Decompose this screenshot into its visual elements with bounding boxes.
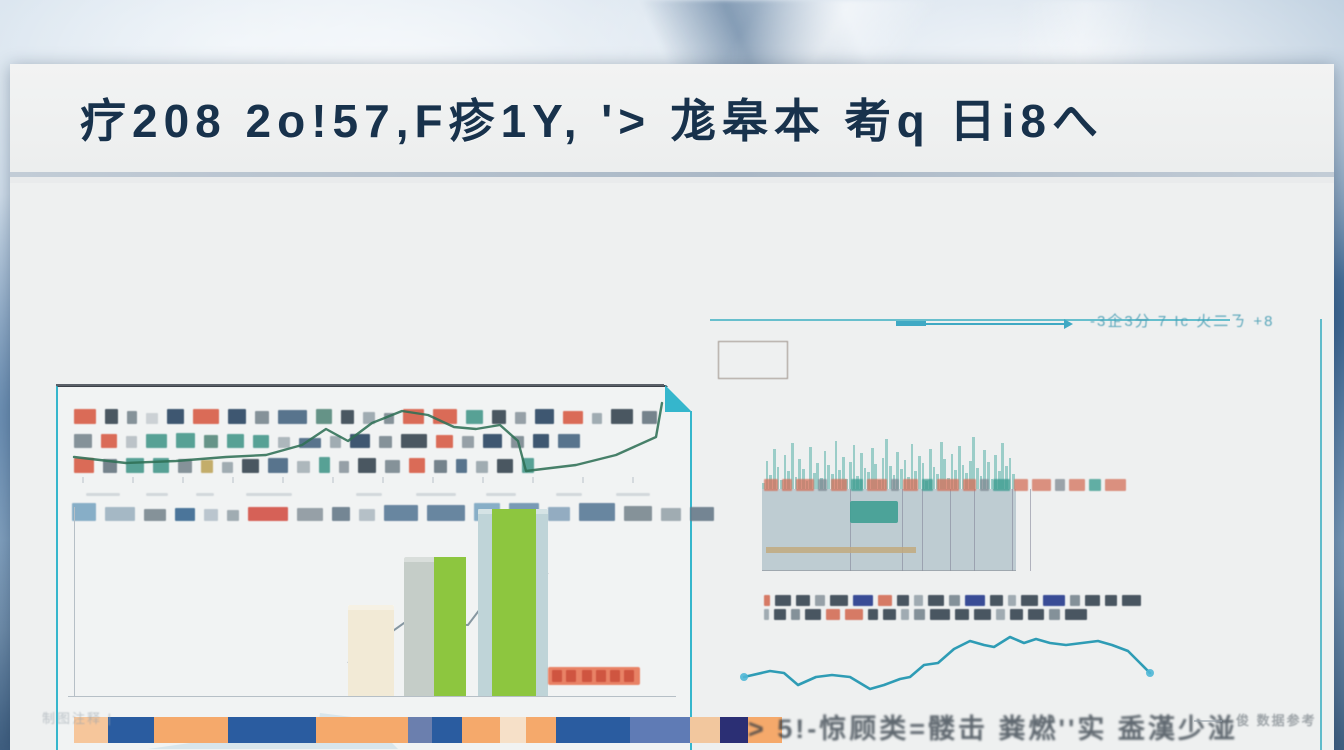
axis-ghost-label-3 bbox=[246, 493, 292, 496]
right-chart-spikes bbox=[762, 353, 1016, 489]
axis-ghost-label-7 bbox=[556, 493, 582, 496]
footer-left-note: 制图注释 | bbox=[42, 708, 113, 727]
pointer-arrow-line bbox=[924, 323, 1064, 325]
left-badge-4[interactable] bbox=[316, 717, 408, 743]
axis-ghost-label-2 bbox=[196, 493, 214, 496]
right-chart-inline-label bbox=[850, 501, 898, 523]
value-label-8 bbox=[903, 479, 918, 491]
right-chart-panel[interactable]: -3企3分 7 Ic 火二ㄋ +8 bbox=[710, 319, 1322, 750]
left-badge-10[interactable] bbox=[556, 717, 630, 743]
left-panel-red-stamp bbox=[548, 667, 640, 685]
axis-ghost-label-8 bbox=[616, 493, 650, 496]
chart-divider-1 bbox=[902, 489, 903, 571]
glyph-token bbox=[1021, 595, 1038, 606]
axis-ghost-tick-10 bbox=[582, 477, 584, 483]
value-label-7 bbox=[891, 479, 899, 491]
right-dense-chart[interactable] bbox=[762, 353, 1016, 585]
glyph-token bbox=[830, 595, 848, 606]
value-label-14 bbox=[1014, 479, 1028, 491]
value-label-6 bbox=[867, 479, 887, 491]
axis-ghost-tick-4 bbox=[282, 477, 284, 483]
value-label-1 bbox=[782, 479, 792, 491]
right-chart-baseline bbox=[762, 570, 1016, 571]
axis-ghost-label-5 bbox=[416, 493, 456, 496]
chart-divider-3 bbox=[950, 489, 951, 571]
glyph-token bbox=[775, 595, 791, 606]
bar-overlay bbox=[492, 509, 536, 697]
glyph-token bbox=[914, 595, 923, 606]
axis-ghost-tick-2 bbox=[182, 477, 184, 483]
value-label-11 bbox=[963, 479, 976, 491]
axis-ghost-tick-3 bbox=[232, 477, 234, 483]
footer-watermark: 俊 数据参考 bbox=[1236, 710, 1317, 729]
value-label-19 bbox=[1105, 479, 1126, 491]
glyph-token bbox=[853, 595, 873, 606]
stamp-ink-3 bbox=[596, 670, 606, 682]
stamp-ink-4 bbox=[610, 670, 620, 682]
axis-ghost-tick-11 bbox=[632, 477, 634, 483]
axis-ghost-label-4 bbox=[356, 493, 382, 496]
left-badge-8[interactable] bbox=[500, 717, 526, 743]
glyph-token bbox=[897, 595, 909, 606]
stamp-ink-5 bbox=[624, 670, 634, 682]
slide-card: 疗208 2o!57,F疹1Y, '> 尨皋本 耇q 日i8へ bbox=[10, 64, 1334, 750]
glyph-token bbox=[878, 595, 892, 606]
value-label-10 bbox=[937, 479, 959, 491]
right-line-chart[interactable] bbox=[732, 619, 1172, 705]
stamp-ink-2 bbox=[582, 670, 592, 682]
left-badge-5[interactable] bbox=[408, 717, 432, 743]
glyph-token bbox=[1008, 595, 1016, 606]
left-badge-2[interactable] bbox=[154, 717, 228, 743]
value-label-9 bbox=[922, 479, 933, 491]
axis-ghost-label-6 bbox=[486, 493, 516, 496]
left-chart-y-axis bbox=[74, 507, 75, 697]
pointer-arrowhead-icon bbox=[1064, 319, 1073, 329]
glyph-token bbox=[764, 595, 770, 606]
left-chart-panel[interactable] bbox=[56, 385, 692, 750]
left-badge-3[interactable] bbox=[228, 717, 316, 743]
glyph-token bbox=[1105, 595, 1117, 606]
bar-3 bbox=[478, 509, 548, 697]
glyph-token bbox=[928, 595, 944, 606]
bar-overlay bbox=[434, 557, 466, 697]
glyph-token bbox=[965, 595, 985, 606]
axis-ghost-tick-1 bbox=[132, 477, 134, 483]
glyph-token bbox=[1043, 595, 1065, 606]
value-label-3 bbox=[818, 479, 827, 491]
right-chart-value-labels bbox=[764, 479, 1126, 491]
axis-ghost-label-0 bbox=[86, 493, 120, 496]
right-panel-right-rule bbox=[1320, 319, 1322, 750]
glyph-token bbox=[990, 595, 1003, 606]
value-label-4 bbox=[831, 479, 847, 491]
bar-cap bbox=[348, 605, 394, 610]
axis-ghost-tick-5 bbox=[332, 477, 334, 483]
left-badge-7[interactable] bbox=[462, 717, 500, 743]
axis-ghost-tick-0 bbox=[82, 477, 84, 483]
bar-1 bbox=[348, 605, 394, 697]
page-title: 疗208 2o!57,F疹1Y, '> 尨皋本 耇q 日i8へ bbox=[80, 85, 1104, 151]
value-label-18 bbox=[1089, 479, 1101, 491]
left-chart-baseline bbox=[68, 696, 676, 697]
left-badge-6[interactable] bbox=[432, 717, 462, 743]
footer-watermark-dash bbox=[1194, 720, 1222, 722]
axis-ghost-tick-8 bbox=[482, 477, 484, 483]
stamp-ink-0 bbox=[552, 670, 562, 682]
slide-body: -3企3分 7 Ic 火二ㄋ +8 bbox=[10, 183, 1334, 743]
title-bar: 疗208 2o!57,F疹1Y, '> 尨皋本 耇q 日i8へ bbox=[10, 64, 1334, 172]
right-caption-row-0 bbox=[764, 595, 1141, 606]
left-badge-1[interactable] bbox=[108, 717, 154, 743]
right-line-chart-svg bbox=[732, 619, 1172, 705]
stamp-ink-1 bbox=[566, 670, 576, 682]
value-label-12 bbox=[980, 479, 989, 491]
left-badge-11[interactable] bbox=[630, 717, 690, 743]
chart-divider-6 bbox=[1030, 489, 1031, 571]
axis-ghost-label-1 bbox=[146, 493, 168, 496]
value-label-17 bbox=[1069, 479, 1085, 491]
axis-ghost-tick-6 bbox=[382, 477, 384, 483]
value-label-13 bbox=[993, 479, 1010, 491]
axis-ghost-tick-7 bbox=[432, 477, 434, 483]
axis-ghost-tick-9 bbox=[532, 477, 534, 483]
right-chart-tan-bar bbox=[766, 547, 916, 553]
arrow-annotation: -3企3分 7 Ic 火二ㄋ +8 bbox=[1090, 310, 1274, 331]
glyph-token bbox=[815, 595, 825, 606]
right-panel-caption: > 5!-惊顾类=髅击 粪燃''实 盉漢少湴 bbox=[748, 707, 1238, 746]
value-label-5 bbox=[851, 479, 863, 491]
left-badge-9[interactable] bbox=[526, 717, 556, 743]
glyph-token bbox=[949, 595, 960, 606]
value-label-15 bbox=[1032, 479, 1051, 491]
glyph-token bbox=[1122, 595, 1141, 606]
chart-divider-5 bbox=[1012, 489, 1013, 571]
chart-divider-2 bbox=[922, 489, 923, 571]
glyph-token bbox=[796, 595, 810, 606]
value-label-2 bbox=[796, 479, 814, 491]
bar-2 bbox=[404, 557, 466, 697]
pointer-arrow-tail bbox=[896, 321, 926, 326]
glyph-token bbox=[1070, 595, 1080, 606]
left-panel-badge-strip[interactable] bbox=[74, 717, 782, 743]
value-label-16 bbox=[1055, 479, 1065, 491]
value-label-0 bbox=[764, 479, 778, 491]
chart-divider-4 bbox=[974, 489, 975, 571]
glyph-token bbox=[1085, 595, 1100, 606]
